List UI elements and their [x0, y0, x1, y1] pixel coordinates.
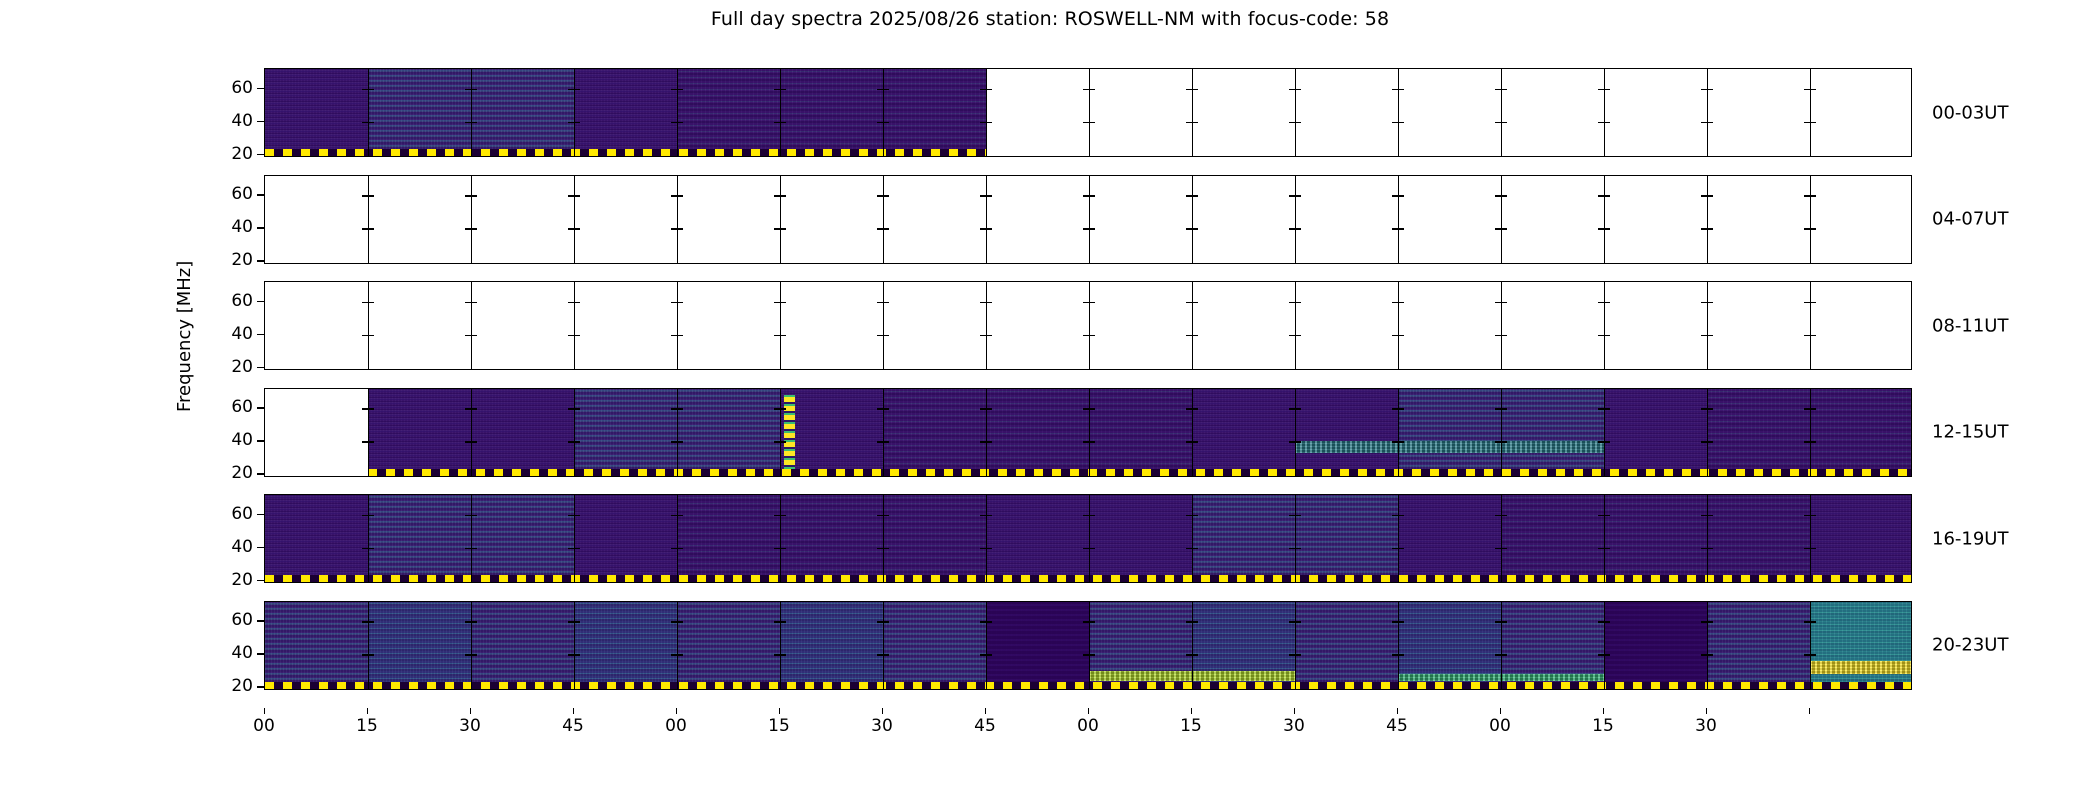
spectrogram-segment [471, 602, 574, 689]
y-tick-inner [1604, 89, 1610, 90]
y-tick-inner [780, 408, 786, 409]
y-tick [257, 547, 264, 548]
y-tick-inner [1707, 89, 1713, 90]
x-tick [264, 708, 265, 714]
segment-separator [986, 495, 987, 582]
y-tick-inner [1501, 621, 1507, 622]
segment-separator [1707, 495, 1708, 582]
y-tick-inner [1707, 515, 1713, 516]
spectrogram-segment [368, 69, 471, 156]
intensity-band [1295, 441, 1604, 453]
segment-separator [1192, 282, 1193, 369]
segment-separator [1501, 176, 1502, 263]
spectrogram-row: 20406000-03UT [264, 68, 1912, 157]
y-tick-inner [368, 195, 374, 196]
y-tick-inner [1810, 335, 1816, 336]
segment-separator [1604, 69, 1605, 156]
row-plot-area[interactable] [264, 388, 1912, 477]
y-tick-inner [574, 335, 580, 336]
segment-separator [1398, 282, 1399, 369]
segment-separator [677, 282, 678, 369]
y-tick-label: 40 [231, 217, 253, 237]
y-tick-inner [1604, 654, 1610, 655]
y-tick-inner [1707, 122, 1713, 123]
y-tick-inner [1604, 122, 1610, 123]
y-tick [257, 514, 264, 515]
y-tick-inner [574, 302, 580, 303]
spectrogram-segment [986, 389, 1089, 476]
y-tick-inner [1810, 302, 1816, 303]
segment-separator [986, 389, 987, 476]
spectrogram-segment [1089, 389, 1192, 476]
y-tick-inner [883, 654, 889, 655]
y-tick-inner [1192, 228, 1198, 229]
y-tick-inner [780, 195, 786, 196]
spectrogram-segment [677, 602, 780, 689]
y-tick-inner [986, 621, 992, 622]
y-tick-label: 40 [231, 430, 253, 450]
segment-separator [1810, 69, 1811, 156]
y-tick-inner [1192, 122, 1198, 123]
spectrogram-segment [368, 389, 471, 476]
y-tick-inner [677, 228, 683, 229]
y-tick-inner [471, 654, 477, 655]
y-tick-inner [883, 548, 889, 549]
spectrogram-segment [471, 495, 574, 582]
segment-separator [1707, 602, 1708, 689]
segment-separator [1810, 282, 1811, 369]
y-tick-inner [1501, 302, 1507, 303]
spectrogram-segment [368, 495, 471, 582]
spectrogram-segment [1604, 389, 1707, 476]
y-tick-label: 60 [231, 291, 253, 311]
segment-separator [883, 282, 884, 369]
segment-separator [1192, 389, 1193, 476]
y-tick-inner [677, 335, 683, 336]
y-tick-inner [883, 195, 889, 196]
y-tick-inner [471, 548, 477, 549]
spectrogram-segment [1398, 389, 1501, 476]
spectrogram-segment [883, 69, 986, 156]
y-tick [257, 301, 264, 302]
spectrogram-segment [780, 602, 883, 689]
y-tick-inner [883, 441, 889, 442]
y-tick-inner [1604, 195, 1610, 196]
segment-separator [1192, 176, 1193, 263]
y-tick-inner [1398, 621, 1404, 622]
y-tick-inner [1810, 228, 1816, 229]
y-tick-inner [1295, 441, 1301, 442]
spectrogram-segment [677, 389, 780, 476]
y-tick-label: 40 [231, 111, 253, 131]
y-tick-label: 20 [231, 676, 253, 696]
y-tick-inner [1707, 654, 1713, 655]
y-tick-inner [1398, 654, 1404, 655]
y-tick-inner [471, 621, 477, 622]
spectrogram-segment [1089, 495, 1192, 582]
spectrogram-segment [883, 495, 986, 582]
y-tick [257, 334, 264, 335]
segment-separator [1707, 176, 1708, 263]
segment-separator [1398, 176, 1399, 263]
y-tick-inner [1810, 441, 1816, 442]
y-tick-inner [574, 89, 580, 90]
spectrogram-row: 20406008-11UT [264, 281, 1912, 370]
y-tick-inner [780, 228, 786, 229]
segment-separator [1501, 602, 1502, 689]
y-tick-inner [986, 195, 992, 196]
y-tick-inner [1707, 195, 1713, 196]
y-tick-label: 40 [231, 537, 253, 557]
segment-separator [368, 495, 369, 582]
row-plot-area[interactable] [264, 68, 1912, 157]
x-tick-label: 00 [1489, 716, 1511, 736]
y-tick-inner [1295, 621, 1301, 622]
y-tick-inner [368, 515, 374, 516]
x-tick-label: 00 [1077, 716, 1099, 736]
spectrogram-segment [574, 389, 677, 476]
x-tick [985, 708, 986, 714]
segment-separator [1295, 602, 1296, 689]
segment-separator [1089, 282, 1090, 369]
y-tick-inner [780, 548, 786, 549]
y-axis-label: Frequency [MHz] [174, 388, 198, 412]
high-signal-block [1810, 602, 1912, 690]
y-tick-inner [1810, 621, 1816, 622]
row-plot-area[interactable] [264, 175, 1912, 264]
row-time-label: 08-11UT [1932, 315, 2008, 336]
x-tick-label: 45 [974, 716, 996, 736]
segment-separator [1501, 69, 1502, 156]
x-tick [1397, 708, 1398, 714]
y-tick-inner [1089, 441, 1095, 442]
y-tick-inner [368, 228, 374, 229]
row-time-label: 04-07UT [1932, 209, 2008, 230]
segment-separator [986, 602, 987, 689]
y-tick-inner [986, 441, 992, 442]
segment-separator [1810, 495, 1811, 582]
segment-separator [368, 389, 369, 476]
x-tick [882, 708, 883, 714]
segment-separator [677, 176, 678, 263]
y-tick-inner [986, 515, 992, 516]
x-tick-label: 15 [1180, 716, 1202, 736]
y-tick-inner [1604, 515, 1610, 516]
segment-separator [1501, 495, 1502, 582]
row-plot-area[interactable] [264, 601, 1912, 690]
y-tick-inner [1398, 195, 1404, 196]
segment-separator [471, 69, 472, 156]
y-tick-inner [1501, 408, 1507, 409]
y-tick-inner [471, 228, 477, 229]
segment-separator [780, 602, 781, 689]
segment-separator [574, 495, 575, 582]
spectrogram-segment [986, 495, 1089, 582]
y-tick-inner [677, 89, 683, 90]
segment-separator [1398, 389, 1399, 476]
segment-separator [1810, 602, 1811, 689]
y-tick-inner [677, 195, 683, 196]
y-tick-inner [1089, 228, 1095, 229]
segment-separator [471, 282, 472, 369]
y-tick-inner [1501, 228, 1507, 229]
segment-separator [1192, 69, 1193, 156]
x-tick-label: 30 [871, 716, 893, 736]
spectrogram-segment [471, 69, 574, 156]
spectrogram-segment [1707, 602, 1810, 689]
segment-separator [1295, 282, 1296, 369]
spectrogram-segment [1810, 389, 1912, 476]
y-tick-label: 60 [231, 397, 253, 417]
y-tick-inner [1295, 89, 1301, 90]
y-tick-inner [986, 89, 992, 90]
segment-separator [471, 495, 472, 582]
y-tick-inner [368, 122, 374, 123]
y-tick-inner [1501, 335, 1507, 336]
spectrogram-segment [1295, 602, 1398, 689]
y-tick [257, 367, 264, 368]
panel-grid: 20406000-03UT20406004-07UT20406008-11UT2… [264, 68, 1912, 708]
y-tick-inner [986, 228, 992, 229]
y-tick-inner [1501, 195, 1507, 196]
y-tick [257, 260, 264, 261]
segment-separator [780, 495, 781, 582]
spectrogram-segment [1707, 495, 1810, 582]
spectrogram-segment [368, 602, 471, 689]
spectrogram-row: 20406020-23UT [264, 601, 1912, 690]
segment-separator [1295, 176, 1296, 263]
spectrogram-figure: Full day spectra 2025/08/26 station: ROS… [0, 0, 2100, 800]
y-tick [257, 580, 264, 581]
y-tick-inner [368, 654, 374, 655]
y-tick-inner [986, 122, 992, 123]
y-tick-label: 60 [231, 184, 253, 204]
x-tick [1500, 708, 1501, 714]
row-plot-area[interactable] [264, 494, 1912, 583]
y-tick-inner [1089, 621, 1095, 622]
y-tick-inner [1295, 228, 1301, 229]
y-tick-inner [1089, 408, 1095, 409]
y-tick-inner [986, 654, 992, 655]
frequency-threshold-marker [265, 149, 986, 156]
spectrogram-row: 20406016-19UT [264, 494, 1912, 583]
segment-separator [883, 495, 884, 582]
y-tick-inner [780, 621, 786, 622]
y-tick-inner [883, 228, 889, 229]
y-tick-inner [368, 621, 374, 622]
segment-separator [1810, 389, 1811, 476]
segment-separator [1707, 282, 1708, 369]
spectrogram-segment [1604, 495, 1707, 582]
y-tick-inner [1398, 441, 1404, 442]
x-tick-label: 30 [1695, 716, 1717, 736]
segment-separator [986, 282, 987, 369]
y-tick-inner [1501, 515, 1507, 516]
y-tick-inner [1295, 548, 1301, 549]
x-axis: 001530450015304500153045001530 [264, 708, 1912, 768]
y-tick-inner [1810, 195, 1816, 196]
y-tick-inner [986, 302, 992, 303]
spectrogram-segment [1707, 389, 1810, 476]
segment-separator [1398, 495, 1399, 582]
segment-separator [1501, 389, 1502, 476]
y-tick-inner [677, 621, 683, 622]
y-tick-inner [368, 89, 374, 90]
y-tick-inner [1707, 302, 1713, 303]
y-tick [257, 686, 264, 687]
y-tick-label: 60 [231, 78, 253, 98]
y-tick-label: 40 [231, 643, 253, 663]
y-tick-inner [1295, 408, 1301, 409]
y-tick-inner [1192, 548, 1198, 549]
segment-separator [677, 389, 678, 476]
segment-separator [368, 602, 369, 689]
y-tick-inner [677, 654, 683, 655]
y-tick-inner [883, 335, 889, 336]
y-tick-inner [1501, 441, 1507, 442]
x-tick [367, 708, 368, 714]
segment-separator [780, 69, 781, 156]
x-tick-label: 00 [253, 716, 275, 736]
y-tick-inner [368, 302, 374, 303]
y-tick-inner [780, 302, 786, 303]
y-tick-inner [574, 441, 580, 442]
low-signal-block [1604, 602, 1707, 690]
y-tick-inner [883, 621, 889, 622]
x-tick-label: 15 [356, 716, 378, 736]
y-tick-inner [1398, 302, 1404, 303]
y-tick-inner [1604, 548, 1610, 549]
y-tick-inner [883, 122, 889, 123]
y-tick-inner [1089, 548, 1095, 549]
y-tick-inner [1192, 195, 1198, 196]
segment-separator [1295, 69, 1296, 156]
y-tick-inner [1604, 441, 1610, 442]
y-tick-inner [1295, 122, 1301, 123]
y-tick-inner [471, 122, 477, 123]
x-tick [1603, 708, 1604, 714]
x-tick [1294, 708, 1295, 714]
spectrogram-segment [1810, 495, 1912, 582]
spectrogram-segment [780, 495, 883, 582]
segment-separator [677, 495, 678, 582]
y-tick [257, 653, 264, 654]
y-tick-inner [1810, 548, 1816, 549]
segment-separator [574, 389, 575, 476]
y-tick-inner [780, 122, 786, 123]
y-tick-label: 20 [231, 357, 253, 377]
y-tick-label: 20 [231, 570, 253, 590]
segment-separator [1604, 389, 1605, 476]
y-tick-label: 60 [231, 610, 253, 630]
spectrogram-row: 20406012-15UT [264, 388, 1912, 477]
spectrogram-segment [1192, 389, 1295, 476]
y-tick-label: 40 [231, 324, 253, 344]
y-tick-inner [574, 122, 580, 123]
row-time-label: 16-19UT [1932, 528, 2008, 549]
spectrogram-segment [780, 389, 883, 476]
spectrogram-segment [780, 69, 883, 156]
y-tick-inner [1089, 89, 1095, 90]
x-tick-label: 15 [1592, 716, 1614, 736]
y-tick-inner [1089, 195, 1095, 196]
segment-separator [986, 69, 987, 156]
y-tick-inner [1192, 89, 1198, 90]
y-tick-inner [1192, 335, 1198, 336]
spectrogram-segment [265, 495, 368, 582]
y-tick [257, 473, 264, 474]
y-tick-inner [1501, 654, 1507, 655]
y-tick-label: 20 [231, 144, 253, 164]
y-tick-inner [1810, 654, 1816, 655]
y-tick-inner [986, 335, 992, 336]
y-tick-inner [1295, 335, 1301, 336]
spectrogram-segment [471, 389, 574, 476]
y-tick-inner [574, 654, 580, 655]
row-plot-area[interactable] [264, 281, 1912, 370]
spectrogram-segment [677, 69, 780, 156]
y-tick-inner [1398, 89, 1404, 90]
segment-separator [1604, 282, 1605, 369]
segment-separator [471, 389, 472, 476]
segment-separator [368, 176, 369, 263]
x-tick [676, 708, 677, 714]
y-tick [257, 194, 264, 195]
y-tick-inner [471, 195, 477, 196]
y-tick-inner [677, 408, 683, 409]
y-tick-inner [471, 335, 477, 336]
frequency-threshold-marker [368, 469, 1912, 476]
y-tick-inner [1810, 515, 1816, 516]
x-tick [1191, 708, 1192, 714]
intensity-band [1810, 661, 1912, 674]
y-tick-inner [986, 548, 992, 549]
y-tick-inner [368, 441, 374, 442]
y-tick-inner [1501, 89, 1507, 90]
segment-separator [574, 602, 575, 689]
y-tick-inner [1604, 408, 1610, 409]
y-tick-inner [1295, 515, 1301, 516]
spectrogram-segment [1501, 389, 1604, 476]
spectrogram-segment [574, 69, 677, 156]
y-tick-inner [574, 228, 580, 229]
segment-separator [1398, 69, 1399, 156]
y-tick-inner [1295, 195, 1301, 196]
y-tick-inner [883, 302, 889, 303]
y-tick-inner [1810, 89, 1816, 90]
y-tick [257, 227, 264, 228]
x-tick [1809, 708, 1810, 714]
y-tick-label: 60 [231, 504, 253, 524]
y-tick-inner [1707, 441, 1713, 442]
y-tick-inner [471, 515, 477, 516]
y-tick-inner [574, 548, 580, 549]
segment-separator [368, 69, 369, 156]
row-time-label: 00-03UT [1932, 102, 2008, 123]
y-tick-inner [1192, 621, 1198, 622]
low-signal-block [986, 602, 1089, 690]
y-tick-inner [677, 122, 683, 123]
spectrogram-segment [1192, 495, 1295, 582]
y-tick-inner [1707, 408, 1713, 409]
y-tick-inner [1604, 228, 1610, 229]
x-tick [573, 708, 574, 714]
saturated-vertical-streak [784, 395, 795, 474]
y-tick [257, 620, 264, 621]
y-tick-inner [471, 89, 477, 90]
segment-separator [1089, 602, 1090, 689]
y-tick-label: 20 [231, 463, 253, 483]
